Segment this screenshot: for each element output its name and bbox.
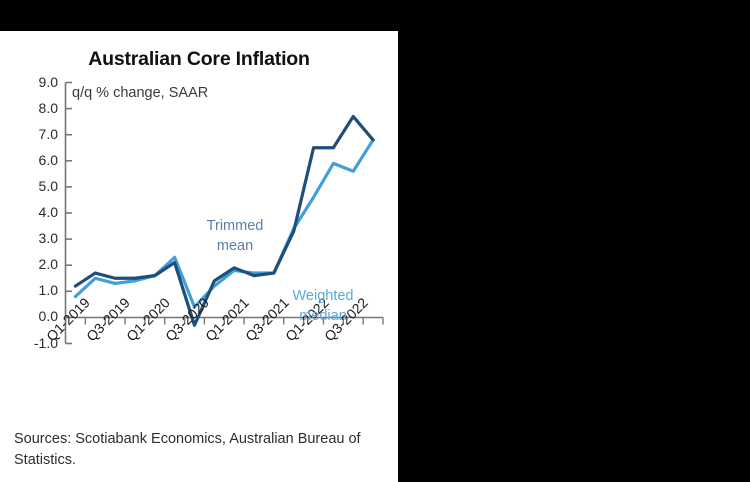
screenshot-root: Australian Core Inflation q/q % change, … bbox=[0, 0, 750, 482]
y-axis-tick-label: 5.0 bbox=[8, 178, 58, 194]
series-annotation-weighted-median-line1: Weighted bbox=[268, 287, 378, 307]
y-axis-tick-label: 6.0 bbox=[8, 152, 58, 168]
series-annotation-weighted-median-line2: median bbox=[268, 307, 378, 327]
series-annotation-trimmed-mean-line2: mean bbox=[183, 237, 287, 257]
y-axis-tick-label: 9.0 bbox=[8, 74, 58, 90]
y-axis-tick-label: 3.0 bbox=[8, 230, 58, 246]
chart-panel: Australian Core Inflation q/q % change, … bbox=[0, 31, 398, 482]
y-axis-tick-label: 4.0 bbox=[8, 204, 58, 220]
series-annotation-trimmed-mean-line1: Trimmed bbox=[183, 217, 287, 237]
y-axis-tick-label: 2.0 bbox=[8, 256, 58, 272]
y-axis-tick-label: 7.0 bbox=[8, 126, 58, 142]
series-annotation-trimmed-mean: Trimmed mean bbox=[183, 217, 287, 256]
y-axis-tick-label: 0.0 bbox=[8, 308, 58, 324]
sources-note: Sources: Scotiabank Economics, Australia… bbox=[14, 429, 386, 471]
y-axis-tick-label: 8.0 bbox=[8, 100, 58, 116]
series-annotation-weighted-median: Weighted median bbox=[268, 287, 378, 326]
y-axis-ticks bbox=[66, 109, 73, 318]
line-chart-plot bbox=[0, 31, 398, 482]
y-axis-tick-label: 1.0 bbox=[8, 282, 58, 298]
